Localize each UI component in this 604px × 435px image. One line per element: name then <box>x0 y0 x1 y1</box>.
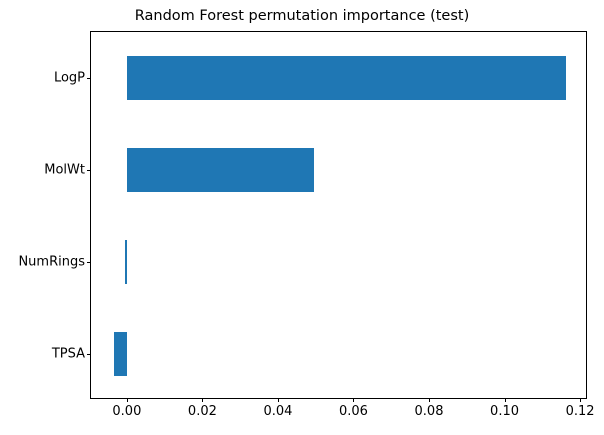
x-tick-label: 0.04 <box>263 404 292 419</box>
y-tick-mark <box>87 354 91 355</box>
x-tick-label: 0.00 <box>112 404 141 419</box>
chart-title: Random Forest permutation importance (te… <box>0 8 604 24</box>
x-tick-mark <box>353 398 354 402</box>
x-tick-label: 0.10 <box>490 404 519 419</box>
bar-logp <box>127 56 566 99</box>
x-tick-mark <box>505 398 506 402</box>
y-tick-label: TPSA <box>52 347 85 362</box>
bar-series <box>91 32 586 398</box>
y-tick-label: NumRings <box>18 255 85 270</box>
y-tick-mark <box>87 170 91 171</box>
y-tick-mark <box>87 78 91 79</box>
bar-tpsa <box>114 332 127 375</box>
x-tick-mark <box>278 398 279 402</box>
plot-area: TPSANumRingsMolWtLogP 0.000.020.040.060.… <box>90 31 587 399</box>
y-tick-label: LogP <box>54 71 85 86</box>
y-tick-label: MolWt <box>44 163 85 178</box>
x-tick-mark <box>429 398 430 402</box>
bar-molwt <box>127 148 314 191</box>
bar-numrings <box>125 240 127 283</box>
figure-canvas: Random Forest permutation importance (te… <box>0 0 604 435</box>
x-tick-label: 0.06 <box>339 404 368 419</box>
x-tick-mark <box>580 398 581 402</box>
x-tick-mark <box>127 398 128 402</box>
y-tick-mark <box>87 262 91 263</box>
x-tick-label: 0.12 <box>566 404 595 419</box>
x-tick-label: 0.02 <box>188 404 217 419</box>
x-tick-mark <box>202 398 203 402</box>
x-tick-label: 0.08 <box>415 404 444 419</box>
